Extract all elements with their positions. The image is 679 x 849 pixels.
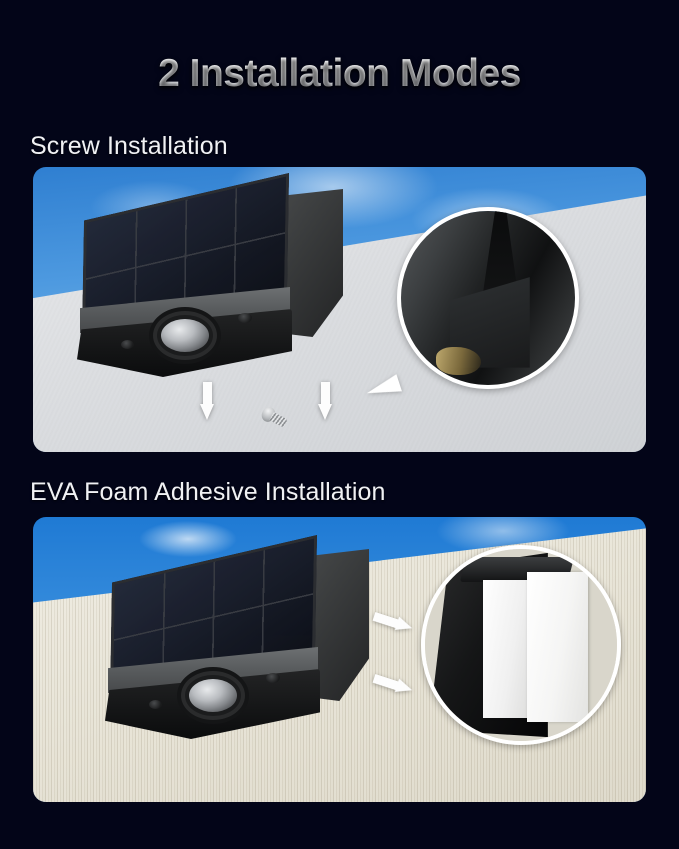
photo-panel-screw-installation: [33, 167, 646, 452]
bracket-screw-hole-left: [121, 340, 134, 349]
pir-sensor-dome: [189, 679, 237, 712]
eva-foam-pad-left: [483, 580, 529, 718]
eva-foam-detail-magnifier: [421, 545, 621, 745]
pir-sensor-dome: [161, 319, 209, 352]
section-label-screw-installation: Screw Installation: [30, 132, 228, 161]
arrow-head: [200, 404, 214, 420]
screw-mount-detail-magnifier: [397, 207, 579, 389]
eva-foam-pad-right: [527, 572, 588, 722]
bracket-screw-hole-left: [149, 700, 162, 709]
bracket-screw-hole-right: [266, 673, 280, 683]
bracket-reflection: [436, 347, 481, 375]
arrow-shaft: [203, 382, 212, 406]
screw-arrow-right: [318, 382, 333, 420]
arrow-head: [318, 404, 332, 420]
arrow-shaft: [321, 382, 330, 406]
bracket-screw-hole-right: [238, 313, 252, 323]
page-title: 2 Installation Modes: [0, 52, 679, 96]
photo-panel-eva-foam-installation: [33, 517, 646, 802]
section-label-eva-foam-installation: EVA Foam Adhesive Installation: [30, 478, 386, 507]
screw-arrow-left: [200, 382, 215, 420]
